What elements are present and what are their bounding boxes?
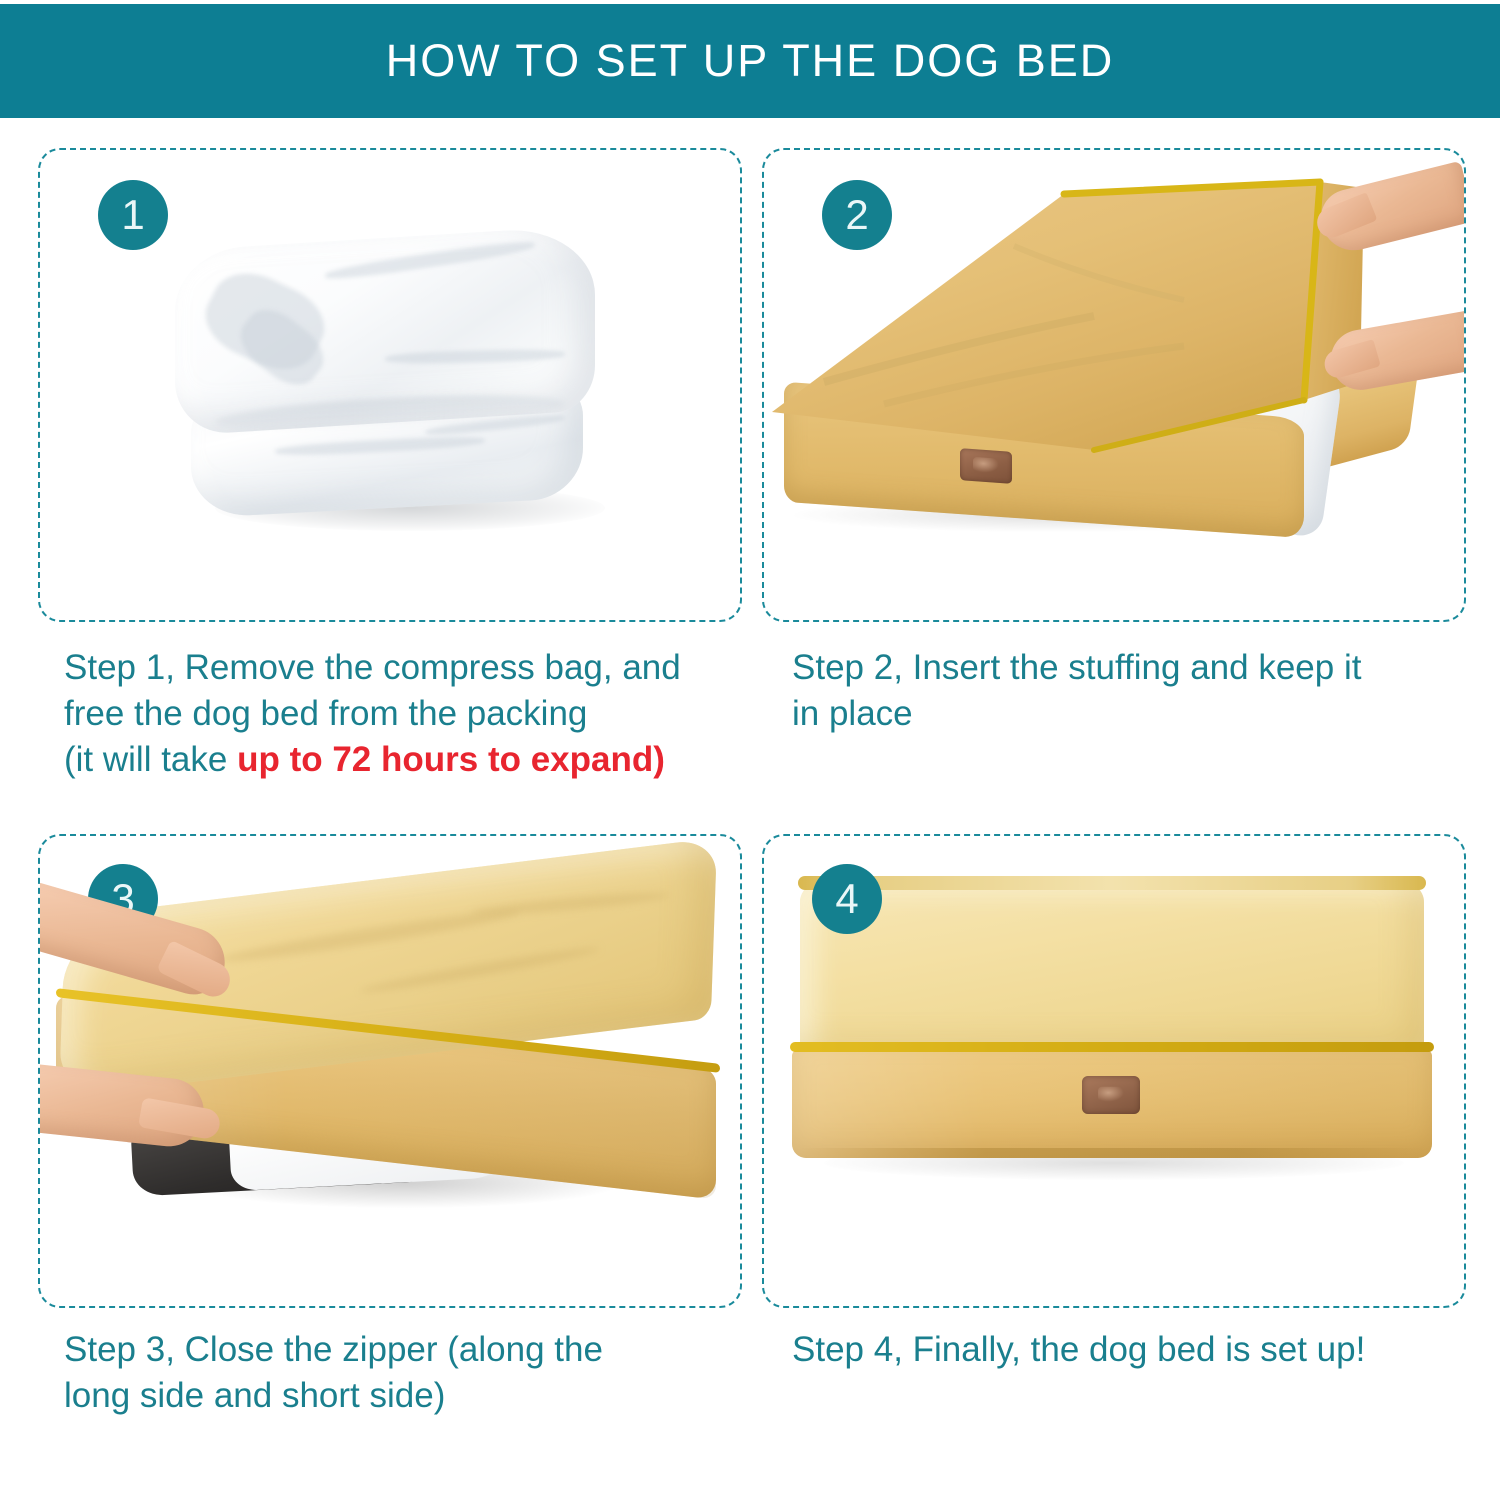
step-3-photo-box: 3	[38, 834, 742, 1308]
leather-logo-tag	[960, 448, 1012, 484]
compressed-bag-image	[155, 230, 615, 540]
step-3-caption-line-2: long side and short side)	[64, 1373, 704, 1419]
step-1-caption: Step 1, Remove the compress bag, and fre…	[64, 645, 754, 783]
leather-logo-tag	[1082, 1076, 1140, 1114]
step-4-caption: Step 4, Finally, the dog bed is set up!	[792, 1327, 1472, 1373]
tag-emboss-icon	[1098, 1087, 1124, 1102]
step-1-caption-line-3: (it will take up to 72 hours to expand)	[64, 737, 754, 783]
step-1-badge: 1	[98, 180, 168, 250]
step-2-caption-line-2: in place	[792, 691, 1472, 737]
step-3-caption-line-1: Step 3, Close the zipper (along the	[64, 1327, 704, 1373]
bed-top-surface	[800, 880, 1424, 1052]
step-2-caption-line-1: Step 2, Insert the stuffing and keep it	[792, 645, 1472, 691]
bed-bottom-edge	[798, 1148, 1426, 1158]
header-banner: HOW TO SET UP THE DOG BED	[0, 4, 1500, 118]
step-2-badge: 2	[822, 180, 892, 250]
yellow-piping-trim	[790, 1042, 1434, 1052]
step-1-caption-line-1: Step 1, Remove the compress bag, and	[64, 645, 754, 691]
step-2-photo-box: 2	[762, 148, 1466, 622]
step-4-caption-line-1: Step 4, Finally, the dog bed is set up!	[792, 1327, 1472, 1373]
step-3-caption: Step 3, Close the zipper (along the long…	[64, 1327, 704, 1419]
bag-crease	[325, 238, 535, 283]
step-2-caption: Step 2, Insert the stuffing and keep it …	[792, 645, 1472, 737]
step-4-photo-box: 4	[762, 834, 1466, 1308]
bag-crease	[385, 348, 565, 365]
step-1-photo-box: 1	[38, 148, 742, 622]
step-2-badge-label: 2	[845, 191, 868, 239]
step-1-badge-label: 1	[121, 191, 144, 239]
tag-emboss-icon	[973, 457, 999, 474]
step-1-caption-highlight: up to 72 hours to expand)	[237, 740, 665, 779]
page-title: HOW TO SET UP THE DOG BED	[386, 35, 1114, 87]
step-1-caption-line-2: free the dog bed from the packing	[64, 691, 754, 737]
bed-top-edge	[798, 876, 1426, 890]
step-4-badge-label: 4	[835, 875, 858, 923]
step-1-caption-prefix: (it will take	[64, 740, 237, 779]
step-4-badge: 4	[812, 864, 882, 934]
